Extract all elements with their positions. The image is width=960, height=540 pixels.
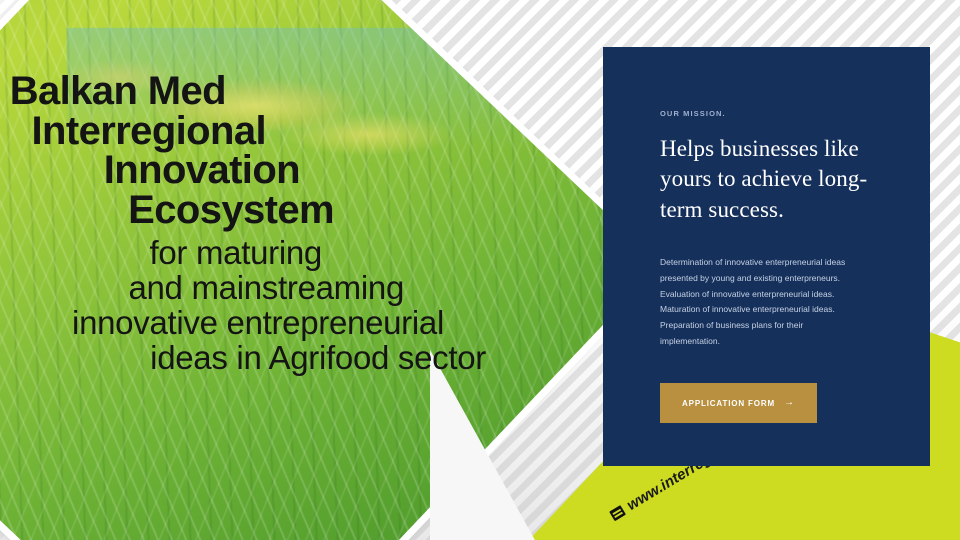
mission-body-line: Preparation of business plans for their [660, 318, 872, 334]
poster-canvas: www.interreg-balka e@pt Balkan Med Inter… [0, 0, 960, 540]
arrow-right-icon: → [784, 398, 795, 408]
headline-line-2: Interregional [0, 112, 500, 152]
mission-panel: OUR MISSION. Helps businesses like yours… [603, 47, 930, 466]
mission-eyebrow-label: OUR MISSION. [660, 109, 890, 118]
application-form-button-label: APPLICATION FORM [682, 399, 775, 408]
subheadline-line-1: for maturing [0, 236, 500, 271]
headline-line-3: Innovation [0, 151, 500, 191]
headline-line-1: Balkan Med [0, 72, 500, 112]
mission-body-text: Determination of innovative enterpreneur… [660, 255, 872, 349]
headline-line-4: Ecosystem [0, 191, 500, 231]
subheadline-line-4: ideas in Agrifood sector [0, 341, 500, 376]
mission-heading: Helps businesses like yours to achieve l… [660, 134, 890, 225]
subheadline-line-3: innovative entrepreneurial [0, 306, 500, 341]
mission-body-line: Maturation of innovative enterpreneurial… [660, 302, 872, 318]
mission-body-line: implementation. [660, 334, 872, 350]
poster-headline: Balkan Med Interregional Innovation Ecos… [0, 72, 500, 376]
mission-panel-content: OUR MISSION. Helps businesses like yours… [603, 47, 930, 423]
application-form-button[interactable]: APPLICATION FORM → [660, 383, 817, 423]
mission-body-line: presented by young and existing enterpre… [660, 271, 872, 287]
mission-body-line: Determination of innovative enterpreneur… [660, 255, 872, 271]
subheadline-line-2: and mainstreaming [0, 271, 500, 306]
mission-body-line: Evaluation of innovative enterpreneurial… [660, 287, 872, 303]
